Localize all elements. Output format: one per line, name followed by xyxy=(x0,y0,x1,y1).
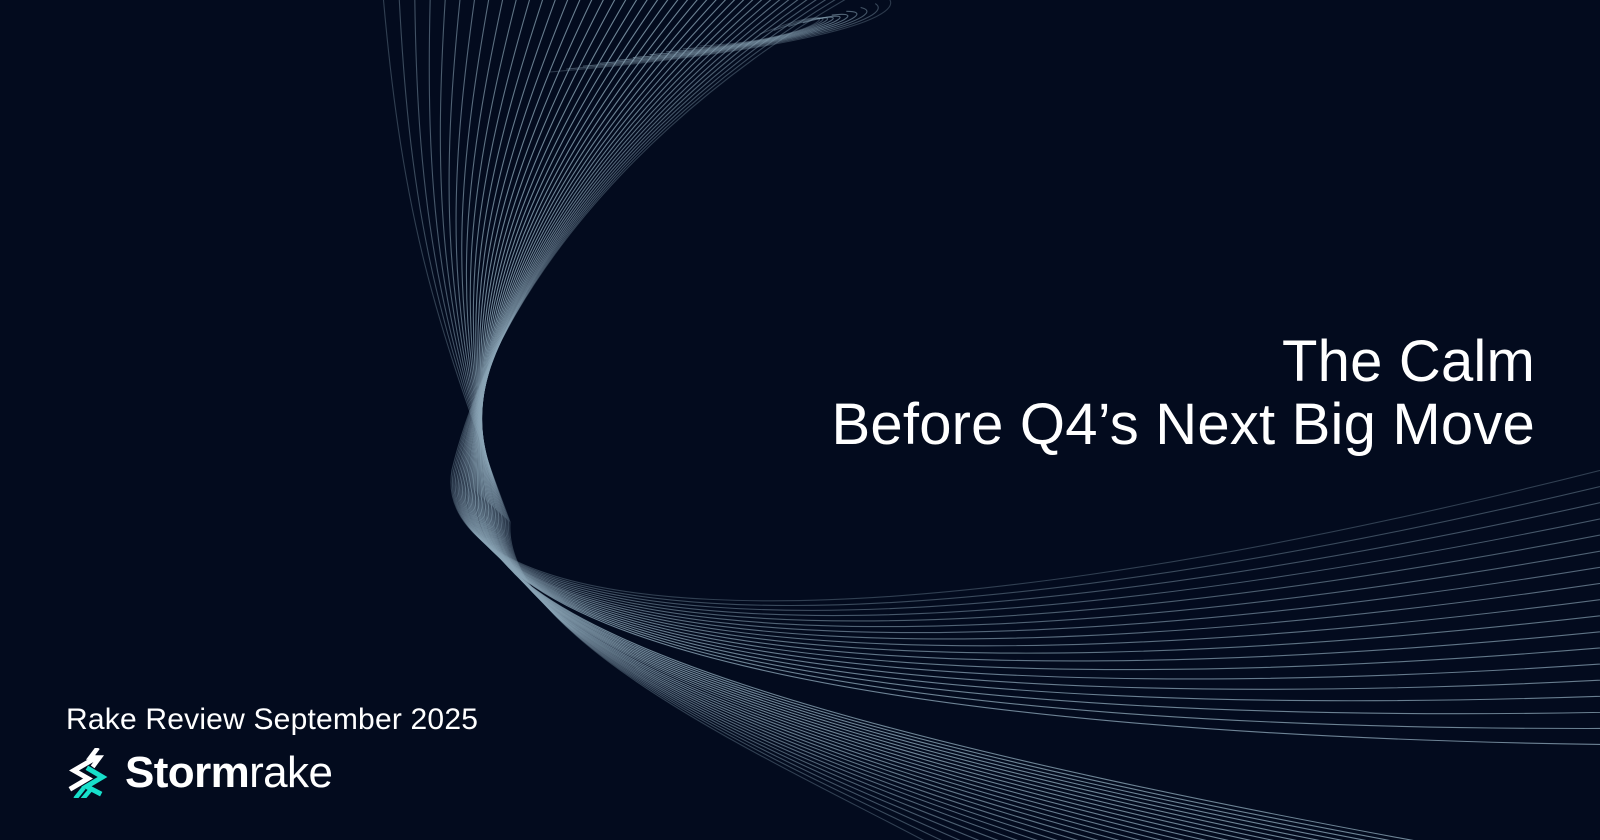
slide-subtitle: Rake Review September 2025 xyxy=(66,702,478,738)
wordmark-rake: rake xyxy=(249,748,332,797)
slide-headline: The Calm Before Q4’s Next Big Move xyxy=(635,330,1535,456)
stormrake-logo-lockup: Stormrake xyxy=(66,748,478,798)
stormrake-wordmark: Stormrake xyxy=(125,750,332,796)
stormrake-lightning-bolt-icon xyxy=(66,748,112,798)
presentation-slide: The Calm Before Q4’s Next Big Move Rake … xyxy=(0,0,1600,840)
headline-line-2: Before Q4’s Next Big Move xyxy=(635,393,1535,456)
wordmark-storm: Storm xyxy=(125,748,249,797)
slide-footer: Rake Review September 2025 Stormrake xyxy=(66,702,478,798)
headline-line-1: The Calm xyxy=(635,330,1535,393)
